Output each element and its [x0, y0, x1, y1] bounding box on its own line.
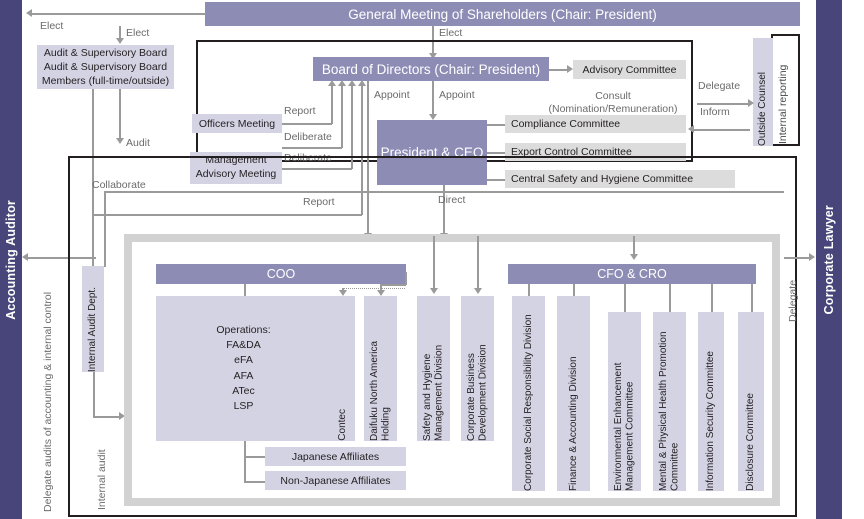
- node-mental-physical-health-promotion-committee-label: Mental & Physical Health Promotion Commi…: [658, 319, 681, 491]
- node-general-meeting-shareholders: General Meeting of Shareholders (Chair: …: [205, 2, 800, 26]
- rail-accounting-auditor: Accounting Auditor: [0, 0, 22, 519]
- line-elect-left: [30, 13, 206, 15]
- line-daifuku-bridge-v: [405, 272, 407, 285]
- node-finance-accounting-division-label: Finance & Accounting Division: [568, 303, 580, 491]
- arrowhead-delegate-counsel: [748, 99, 754, 107]
- node-officers-meeting: Officers Meeting: [192, 114, 282, 133]
- line-deliberate-1-h: [282, 147, 342, 149]
- node-coo-label: COO: [267, 267, 295, 281]
- line-coo-operations: [244, 284, 246, 296]
- node-environmental-enhancement-management-committee-label: Environmental Enhancement Management Com…: [613, 319, 636, 491]
- label-elect-right: Elect: [439, 27, 462, 40]
- arrowhead-deliberate-2: [348, 80, 356, 86]
- label-internal-reporting: Internal reporting: [777, 40, 790, 144]
- node-board-of-directors-label: Board of Directors (Chair: President): [322, 62, 540, 77]
- node-corporate-social-responsibility-division: Corporate Social Responsibility Division: [512, 296, 545, 491]
- label-consult: Consult (Nomination/Remuneration): [538, 90, 688, 116]
- line-internal-audit-h: [93, 416, 121, 418]
- arrowhead-cfo: [630, 254, 638, 260]
- node-internal-audit-dept-label: Internal Audit Dept.: [87, 283, 99, 372]
- node-non-japanese-affiliates-label: Non-Japanese Affiliates: [280, 475, 390, 487]
- node-non-japanese-affiliates: Non-Japanese Affiliates: [265, 471, 406, 490]
- line-cfo-unit-5: [751, 284, 753, 312]
- node-corporate-business-development-division: Corporate Business Development Division: [461, 296, 494, 441]
- arrowhead-elect-mid: [116, 38, 124, 44]
- label-inform: Inform: [700, 106, 730, 119]
- node-audit-supervisory-board: Audit & Supervisory Board Audit & Superv…: [37, 45, 174, 89]
- node-coo: COO: [156, 264, 406, 284]
- operations-item-4: LSP: [234, 399, 254, 414]
- node-daifuku-north-america-holding: Daifuku North America Holding: [364, 296, 397, 441]
- node-information-security-committee-label: Information Security Committee: [705, 347, 717, 491]
- arrowhead-audit: [116, 138, 124, 144]
- arrowhead-deliberate-1: [338, 80, 346, 86]
- node-cfo-cro-label: CFO & CRO: [597, 267, 666, 281]
- label-audit: Audit: [126, 137, 150, 150]
- label-deliberate-1: Deliberate: [284, 131, 332, 144]
- operations-item-1: eFA: [234, 353, 253, 368]
- arrowhead-report-bottom: [358, 80, 366, 86]
- node-board-of-directors: Board of Directors (Chair: President): [313, 57, 549, 81]
- label-delegate-lawyer: Delegate: [787, 262, 800, 322]
- label-elect-left: Elect: [40, 20, 63, 33]
- arrowhead-report-officers: [328, 80, 336, 86]
- line-delegate-counsel: [697, 103, 750, 105]
- node-japanese-affiliates: Japanese Affiliates: [265, 447, 406, 466]
- audit-board-line-1: Audit & Supervisory Board: [44, 46, 167, 60]
- label-report-officers: Report: [284, 105, 316, 118]
- line-collaborate-h: [104, 191, 784, 193]
- node-contec: Contec: [331, 296, 355, 441]
- node-officers-meeting-label: Officers Meeting: [199, 118, 275, 130]
- line-cfo-unit-1: [573, 284, 575, 296]
- line-delegate-lawyer: [784, 257, 812, 259]
- line-inform: [693, 129, 750, 131]
- audit-board-line-3: Members (full-time/outside): [42, 74, 169, 88]
- node-mental-physical-health-promotion-committee: Mental & Physical Health Promotion Commi…: [653, 312, 686, 491]
- node-contec-label: Contec: [337, 405, 349, 441]
- label-delegate-audits: Delegate audits of accounting & internal…: [42, 262, 55, 512]
- operations-item-3: ATec: [232, 384, 255, 399]
- node-safety-hygiene-management-division-label: Safety and Hygiene Management Division: [422, 303, 445, 441]
- node-environmental-enhancement-management-committee: Environmental Enhancement Management Com…: [608, 312, 641, 491]
- label-appoint-2: Appoint: [439, 89, 475, 102]
- arrowhead-delegate-lawyer: [809, 253, 815, 261]
- audit-board-line-2: Audit & Supervisory Board: [44, 60, 167, 74]
- node-finance-accounting-division: Finance & Accounting Division: [557, 296, 590, 491]
- line-coo-contec-dotted: [343, 288, 405, 289]
- node-safety-hygiene-management-division: Safety and Hygiene Management Division: [417, 296, 450, 441]
- arrowhead-daifuku: [377, 290, 385, 296]
- line-internal-audit-v: [93, 372, 95, 417]
- node-internal-audit-dept: Internal Audit Dept.: [82, 266, 104, 372]
- arrowhead-corporate-business-dev: [474, 288, 482, 294]
- node-operations: Operations: FA&DA eFA AFA ATec LSP: [156, 296, 331, 441]
- line-daifuku-bridge: [380, 284, 406, 286]
- label-elect-mid: Elect: [126, 27, 149, 40]
- governance-chart: Accounting Auditor Corporate Lawyer Gene…: [0, 0, 864, 519]
- node-disclosure-committee: Disclosure Committee: [738, 312, 764, 491]
- line-cfo-unit-2: [624, 284, 626, 312]
- line-affiliate-japanese: [244, 456, 266, 458]
- arrowhead-safety-hygiene: [430, 288, 438, 294]
- line-audit-board-down-b: [119, 89, 121, 140]
- line-president-export: [487, 152, 505, 154]
- label-delegate-counsel: Delegate: [698, 80, 740, 93]
- rail-accounting-auditor-label: Accounting Auditor: [4, 200, 18, 320]
- arrowhead-inform: [688, 125, 694, 133]
- node-daifuku-north-america-holding-label: Daifuku North America Holding: [369, 303, 392, 441]
- node-outside-counsel: Outside Counsel: [753, 38, 773, 146]
- node-cfo-cro: CFO & CRO: [508, 264, 756, 284]
- line-president-compliance: [487, 124, 505, 126]
- arrowhead-elect-left: [26, 9, 32, 17]
- node-information-security-committee: Information Security Committee: [698, 312, 724, 491]
- node-japanese-affiliates-label: Japanese Affiliates: [292, 451, 379, 463]
- node-corporate-social-responsibility-division-label: Corporate Social Responsibility Division: [523, 303, 535, 491]
- node-compliance-committee: Compliance Committee: [505, 115, 686, 133]
- label-internal-audit: Internal audit: [96, 420, 109, 510]
- node-outside-counsel-label: Outside Counsel: [757, 68, 769, 146]
- label-appoint-1: Appoint: [374, 89, 410, 102]
- node-advisory-committee-label: Advisory Committee: [583, 64, 677, 76]
- arrowhead-accounting-auditor: [22, 253, 28, 261]
- node-disclosure-committee-label: Disclosure Committee: [745, 389, 757, 491]
- line-report-officers-v: [331, 84, 333, 124]
- line-cfo-unit-0: [528, 284, 530, 296]
- rail-corporate-lawyer: Corporate Lawyer: [816, 0, 842, 519]
- node-advisory-committee: Advisory Committee: [573, 60, 686, 79]
- line-corporate-business-dev-v: [477, 236, 479, 290]
- operations-item-2: AFA: [234, 369, 254, 384]
- line-cfo-unit-4: [711, 284, 713, 312]
- label-consult-line-1: Consult: [538, 90, 688, 103]
- line-affiliate-non-japanese: [244, 481, 266, 483]
- line-collaborate-v: [104, 191, 106, 267]
- line-operations-affiliates-v: [244, 441, 246, 483]
- node-general-meeting-shareholders-label: General Meeting of Shareholders (Chair: …: [348, 7, 656, 22]
- operations-item-0: FA&DA: [226, 338, 260, 353]
- line-cfo-unit-3: [669, 284, 671, 312]
- node-corporate-business-development-division-label: Corporate Business Development Division: [466, 303, 489, 441]
- node-compliance-committee-label: Compliance Committee: [511, 118, 620, 130]
- line-report-officers-h: [282, 123, 332, 125]
- line-bod-advisory: [549, 69, 569, 71]
- arrowhead-contec: [339, 290, 347, 296]
- line-safety-hygiene-v: [433, 236, 435, 290]
- line-appoint-2: [432, 81, 434, 117]
- line-deliberate-1-v: [341, 84, 343, 148]
- operations-heading: Operations:: [216, 323, 270, 338]
- line-appoint-cfo: [633, 236, 635, 256]
- rail-corporate-lawyer-label: Corporate Lawyer: [822, 205, 836, 314]
